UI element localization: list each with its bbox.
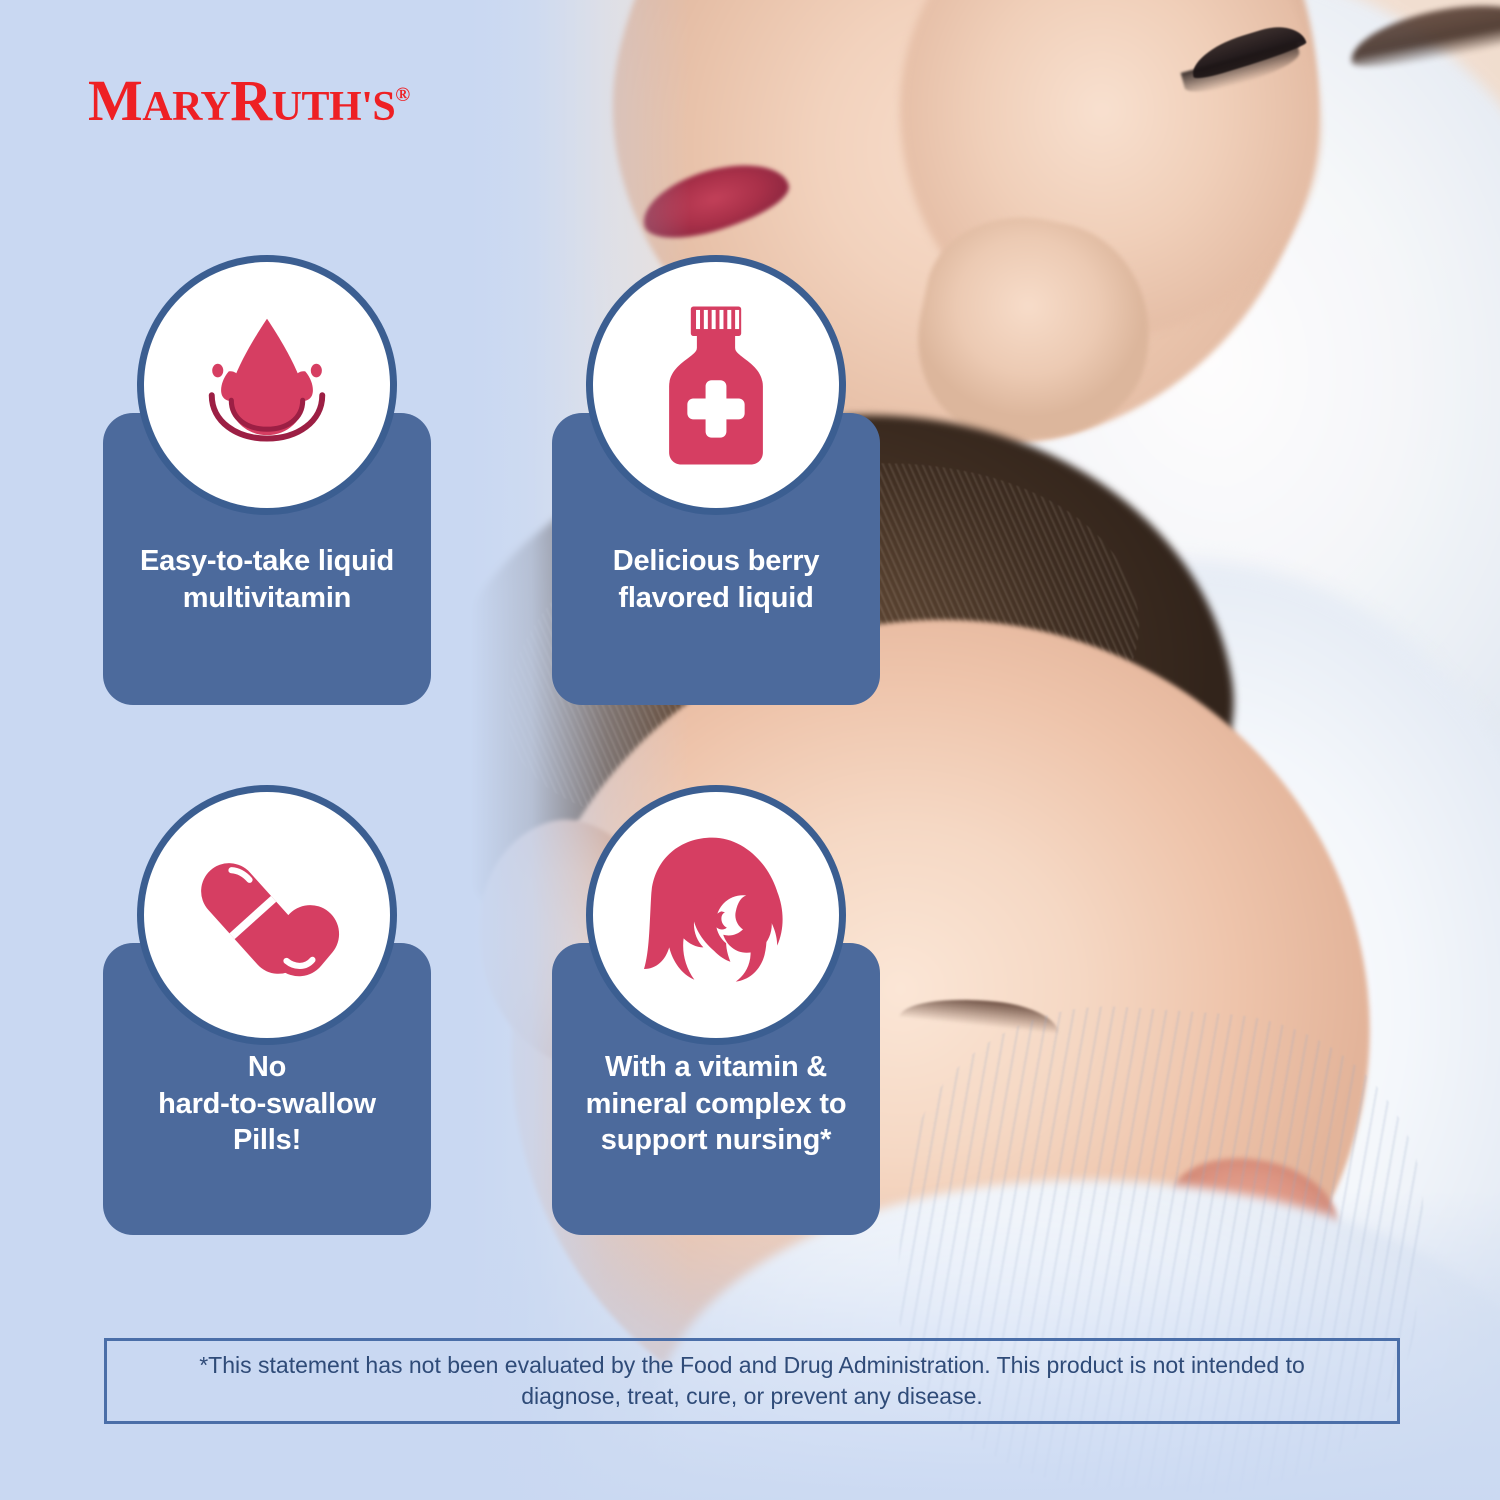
product-feature-infographic: MaryRuth's® Easy-to-take liquid multivit… <box>0 0 1500 1500</box>
brand-logo: MaryRuth's® <box>88 72 410 130</box>
capsule-pills-icon <box>180 828 355 1003</box>
feature-card-label: With a vitamin & mineral complex to supp… <box>562 1049 870 1159</box>
fda-disclaimer-box: *This statement has not been evaluated b… <box>104 1338 1400 1424</box>
feature-card-label: No hard-to-swallow Pills! <box>113 1049 421 1159</box>
fda-disclaimer-text: *This statement has not been evaluated b… <box>173 1350 1331 1412</box>
feature-card-label: Easy-to-take liquid multivitamin <box>113 543 421 616</box>
logo-mary-m: M <box>88 68 142 133</box>
logo-apostrophe-s: 's <box>361 84 395 130</box>
logo-ruth-rest: uth <box>272 84 362 130</box>
logo-ruth-r: R <box>230 68 271 133</box>
feature-icon-circle <box>137 785 397 1045</box>
feature-icon-circle <box>586 785 846 1045</box>
feature-icon-circle <box>586 255 846 515</box>
feature-icon-circle <box>137 255 397 515</box>
mother-nursing-baby-icon <box>626 825 806 1005</box>
registered-trademark-icon: ® <box>395 84 409 106</box>
logo-mary-rest: ary <box>142 84 230 130</box>
background-photo-layer <box>0 0 1500 1500</box>
medicine-bottle-icon <box>641 303 791 468</box>
water-droplet-splash-icon <box>182 300 352 470</box>
feature-card-label: Delicious berry flavored liquid <box>562 543 870 616</box>
